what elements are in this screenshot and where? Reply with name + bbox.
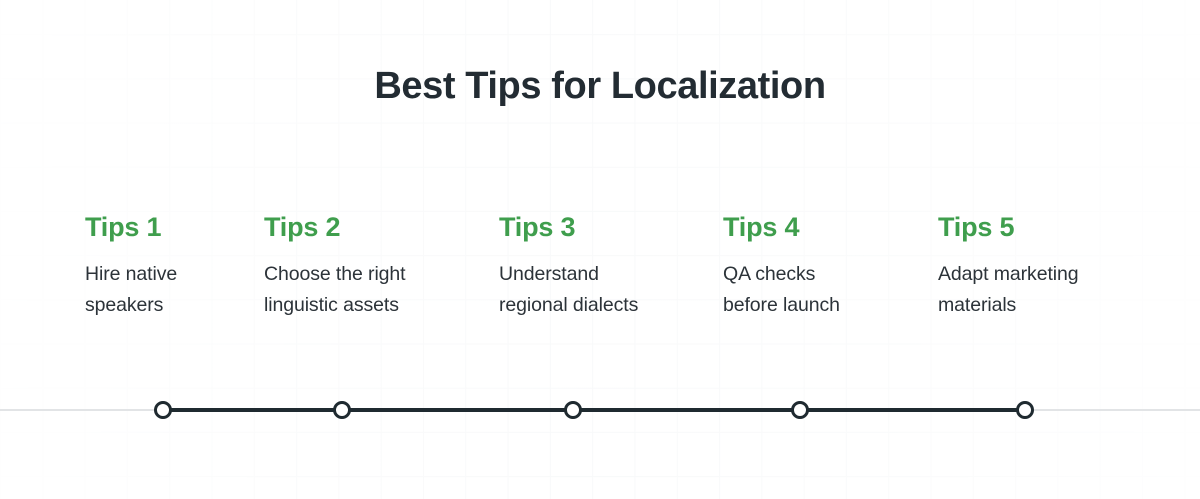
tip-description-line2-2: linguistic assets [264, 290, 406, 321]
tip-description-3: Understandregional dialects [499, 259, 638, 321]
tip-heading-2: Tips 2 [264, 212, 406, 243]
page-title: Best Tips for Localization [0, 64, 1200, 110]
tip-column-2: Tips 2Choose the rightlinguistic assets [264, 212, 406, 321]
timeline-node-3[interactable] [564, 401, 582, 419]
timeline [0, 386, 1200, 434]
tip-column-4: Tips 4QA checksbefore launch [723, 212, 840, 321]
tip-description-line1-4: QA checks [723, 259, 840, 290]
tip-description-line2-1: speakers [85, 290, 177, 321]
timeline-node-4[interactable] [791, 401, 809, 419]
tip-column-1: Tips 1Hire nativespeakers [85, 212, 177, 321]
tip-description-line2-4: before launch [723, 290, 840, 321]
tip-heading-5: Tips 5 [938, 212, 1079, 243]
tip-heading-1: Tips 1 [85, 212, 177, 243]
timeline-node-5[interactable] [1016, 401, 1034, 419]
tip-description-line2-3: regional dialects [499, 290, 638, 321]
timeline-track-dark [163, 408, 1025, 412]
tip-description-2: Choose the rightlinguistic assets [264, 259, 406, 321]
localization-tips-infographic: Best Tips for Localization Tips 1Hire na… [0, 0, 1200, 499]
tip-column-3: Tips 3Understandregional dialects [499, 212, 638, 321]
tip-description-line2-5: materials [938, 290, 1079, 321]
tip-column-5: Tips 5Adapt marketingmaterials [938, 212, 1079, 321]
tip-description-line1-1: Hire native [85, 259, 177, 290]
tip-description-1: Hire nativespeakers [85, 259, 177, 321]
tip-heading-3: Tips 3 [499, 212, 638, 243]
timeline-node-1[interactable] [154, 401, 172, 419]
timeline-node-2[interactable] [333, 401, 351, 419]
tip-heading-4: Tips 4 [723, 212, 840, 243]
tip-description-line1-5: Adapt marketing [938, 259, 1079, 290]
tip-description-line1-2: Choose the right [264, 259, 406, 290]
tip-description-line1-3: Understand [499, 259, 638, 290]
tip-description-4: QA checksbefore launch [723, 259, 840, 321]
tip-description-5: Adapt marketingmaterials [938, 259, 1079, 321]
